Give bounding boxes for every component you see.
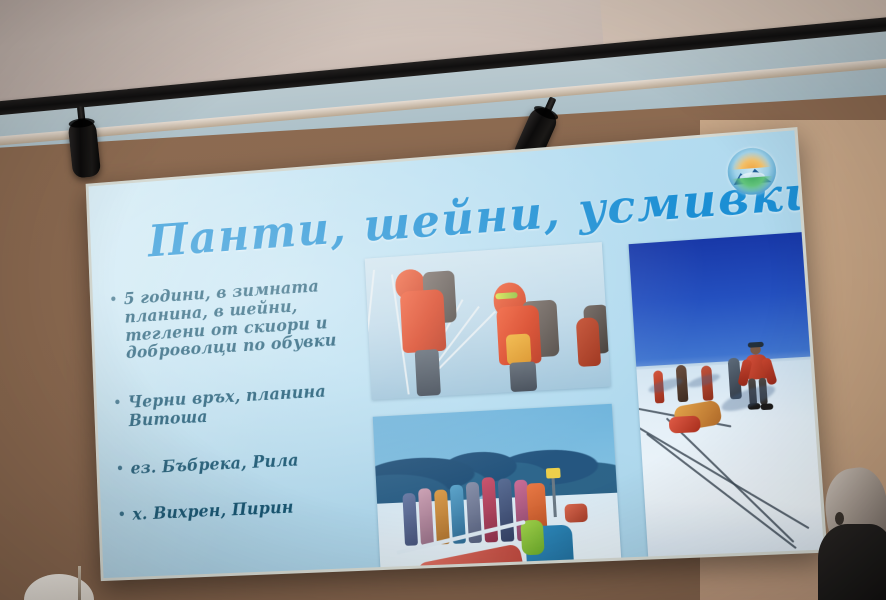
photo-blue-sky bbox=[629, 232, 811, 376]
bullet-marker: • bbox=[118, 506, 127, 525]
photo-pulling-sled-on-snowfield bbox=[629, 232, 824, 560]
hiker-chest-bag bbox=[506, 333, 532, 365]
person-ear bbox=[835, 512, 844, 525]
equipment-bag bbox=[564, 503, 588, 522]
bullet-text: Черни връх, планина Витоша bbox=[128, 380, 371, 430]
bullet-text: х. Вихрен, Пирин bbox=[132, 494, 376, 524]
projection-screen: Панти, шейни, усмивки • 5 години, в зимн… bbox=[86, 127, 828, 581]
sled-gear-bag bbox=[669, 415, 701, 433]
hiker-legs bbox=[509, 361, 537, 392]
hiker-legs bbox=[415, 349, 441, 396]
list-item: • х. Вихрен, Пирин bbox=[118, 494, 376, 524]
hiker-jacket bbox=[400, 289, 447, 353]
photo-hikers-with-poles bbox=[365, 242, 611, 400]
bullet-text: ез. Бъбрека, Рила bbox=[130, 448, 373, 479]
list-item: • Черни връх, планина Витоша bbox=[113, 380, 371, 431]
man-boot bbox=[760, 403, 773, 410]
bullet-marker: • bbox=[109, 291, 120, 364]
bullet-text: 5 години, в зимната планина, в шейни, те… bbox=[124, 275, 368, 364]
hiker-jacket bbox=[576, 317, 601, 367]
photo-group-in-snowy-forest bbox=[373, 404, 623, 578]
bullet-marker: • bbox=[116, 460, 125, 479]
slide-bullet-list: • 5 години, в зимната планина, в шейни, … bbox=[109, 275, 376, 545]
presentation-slide: Панти, шейни, усмивки • 5 години, в зимн… bbox=[89, 130, 824, 578]
bullet-marker: • bbox=[113, 395, 122, 432]
screen-border: Панти, шейни, усмивки • 5 години, в зимн… bbox=[86, 127, 828, 581]
kneeling-person-sleeve bbox=[520, 520, 544, 556]
logo-top-arc bbox=[731, 151, 772, 170]
person-shoulders bbox=[818, 524, 886, 600]
list-item: • ез. Бъбрека, Рила bbox=[116, 448, 373, 480]
photo-scene: Панти, шейни, усмивки • 5 години, в зимн… bbox=[0, 0, 886, 600]
man-cap bbox=[748, 342, 764, 348]
list-item: • 5 години, в зимната планина, в шейни, … bbox=[109, 275, 367, 365]
person-right-silhouette bbox=[800, 460, 886, 600]
trail-sign bbox=[546, 468, 561, 479]
stand-pole bbox=[78, 566, 81, 600]
person-in-group bbox=[402, 493, 418, 546]
